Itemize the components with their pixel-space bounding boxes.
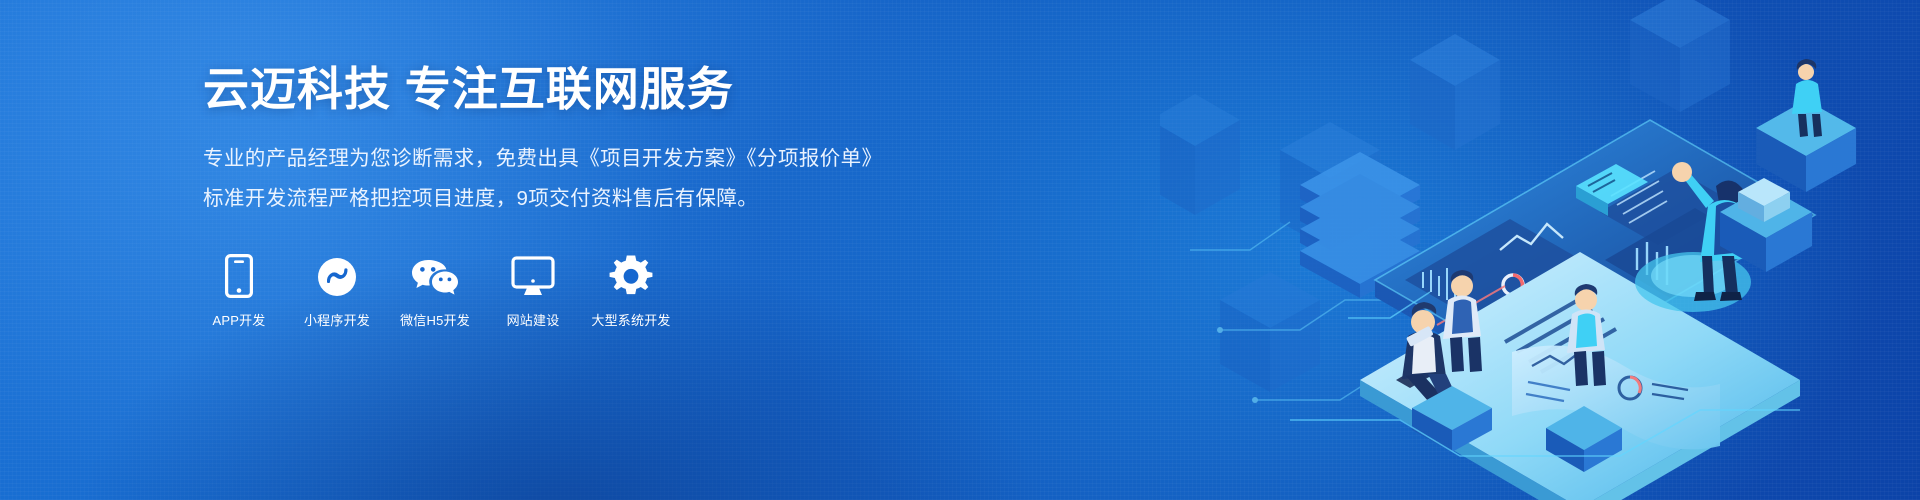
hero-content: 云迈科技 专注互联网服务 专业的产品经理为您诊断需求，免费出具《项目开发方案》《… xyxy=(203,62,903,329)
subtitle-line-1: 专业的产品经理为您诊断需求，免费出具《项目开发方案》《分项报价单》 xyxy=(203,142,903,176)
isometric-data-dashboard-illustration xyxy=(1160,0,1920,500)
mobile-phone-icon xyxy=(225,254,253,298)
page-title: 云迈科技 专注互联网服务 xyxy=(203,62,903,116)
wechat-icon xyxy=(410,254,460,298)
hero-banner: 云迈科技 专注互联网服务 专业的产品经理为您诊断需求，免费出具《项目开发方案》《… xyxy=(0,0,1920,500)
cube-platform-right xyxy=(1756,59,1856,192)
monitor-icon xyxy=(511,254,555,298)
mini-program-icon xyxy=(316,254,358,298)
service-item-wechat-h5[interactable]: 微信H5开发 xyxy=(399,254,471,329)
service-item-website[interactable]: 网站建设 xyxy=(497,254,569,329)
gear-icon xyxy=(609,254,653,298)
service-list: APP开发 小程序开发 xyxy=(203,254,903,329)
subtitle-line-2: 标准开发流程严格把控项目进度，9项交付资料售后有保障。 xyxy=(203,182,903,216)
service-item-app[interactable]: APP开发 xyxy=(203,254,275,329)
service-item-large-system[interactable]: 大型系统开发 xyxy=(595,254,667,329)
service-label: 大型系统开发 xyxy=(591,310,670,329)
service-label: APP开发 xyxy=(212,310,265,329)
service-label: 微信H5开发 xyxy=(400,310,470,329)
service-label: 小程序开发 xyxy=(304,310,370,329)
service-item-mini-program[interactable]: 小程序开发 xyxy=(301,254,373,329)
service-label: 网站建设 xyxy=(507,310,560,329)
